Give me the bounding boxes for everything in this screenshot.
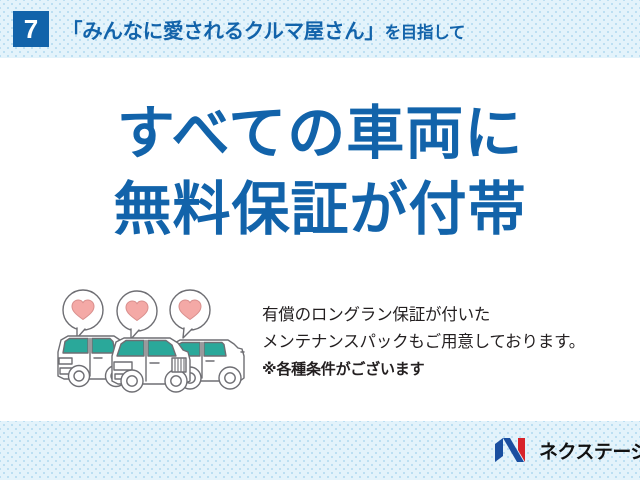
content-row: 有償のロングラン保証が付いた メンテナンスパックもご用意しております。 ※各種条… xyxy=(0,286,640,404)
suv-grille-detail xyxy=(172,358,186,372)
heart-speech-bubble-2 xyxy=(117,291,157,339)
three-cars-illustration xyxy=(52,286,252,396)
header: 7 「みんなに愛されるクルマ屋さん」 を目指して xyxy=(0,0,640,58)
nextage-n-mark-icon xyxy=(494,437,532,463)
heart-speech-bubble-3 xyxy=(170,290,210,338)
body-copy-line-1: 有償のロングラン保証が付いた xyxy=(262,302,640,329)
body-copy-line-2: メンテナンスパックもご用意しております。 xyxy=(262,329,640,356)
header-title-suffix-text: を目指して xyxy=(385,19,466,43)
headline-line-2: 無料保証が付帯 xyxy=(0,172,640,248)
body-copy: 有償のロングラン保証が付いた メンテナンスパックもご用意しております。 ※各種条… xyxy=(262,286,640,383)
header-title-quoted-text: 「みんなに愛されるクルマ屋さん」 xyxy=(62,14,385,44)
brand-name-text: ネクステージ xyxy=(539,437,640,464)
body-copy-note: ※各種条件がございます xyxy=(262,356,640,383)
promotional-banner: 7 「みんなに愛されるクルマ屋さん」 を目指して すべての車両に 無料保証が付帯 xyxy=(0,0,640,480)
header-title: 「みんなに愛されるクルマ屋さん」 を目指して xyxy=(62,14,465,44)
headline-line-1: すべての車両に xyxy=(0,96,640,172)
heart-speech-bubble-1 xyxy=(63,290,103,338)
page-title: すべての車両に 無料保証が付帯 xyxy=(0,96,640,248)
step-number-badge: 7 xyxy=(13,11,49,47)
brand-logo: ネクステージ xyxy=(494,434,640,466)
